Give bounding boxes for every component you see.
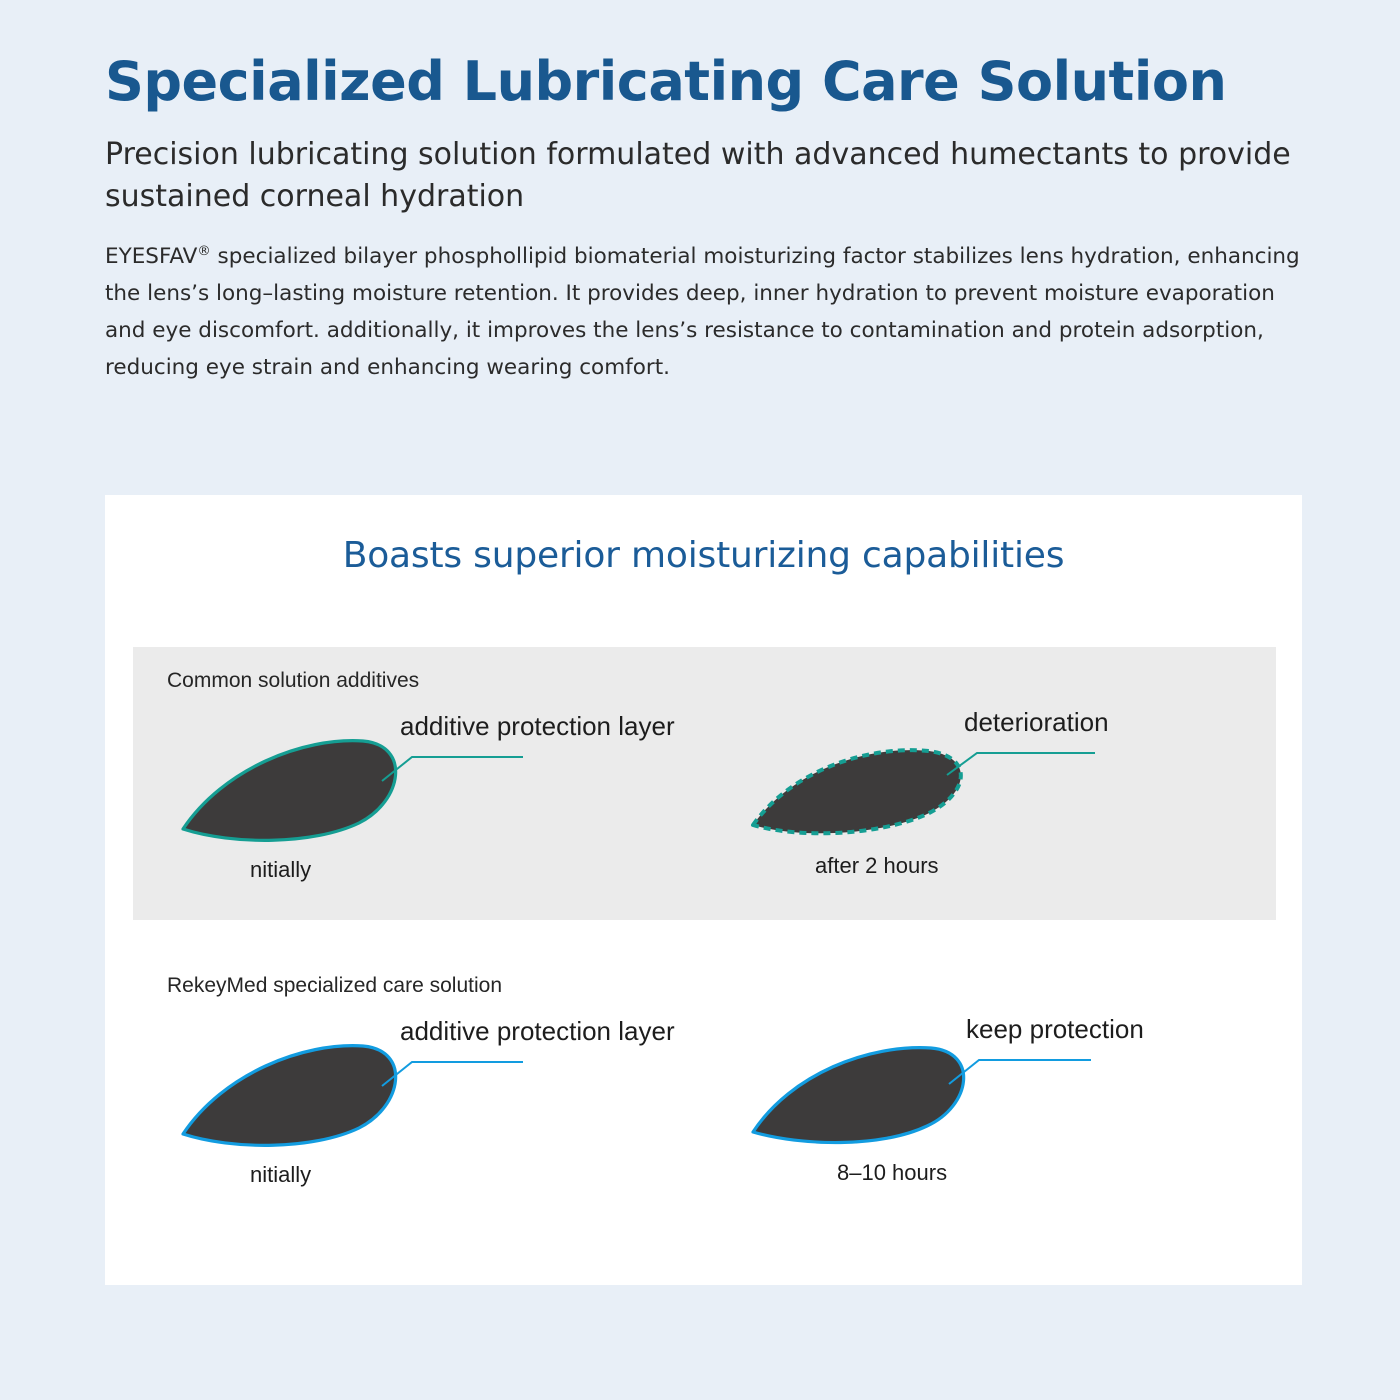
lens-cell-rekeymed-8-10-hours: keep protection 8–10 hours xyxy=(733,1014,1273,1219)
callout-rekeymed-initial: additive protection layer xyxy=(400,1016,675,1047)
stage-label-common-initial: nitially xyxy=(250,857,311,883)
page-body-paragraph: EYESFAV® specialized bilayer phosphollip… xyxy=(105,239,1320,387)
callout-common-initial: additive protection layer xyxy=(400,711,675,742)
page-title: Specialized Lubricating Care Solution xyxy=(105,52,1330,112)
lens-shape xyxy=(183,741,396,841)
stage-label-rekeymed-initial: nitially xyxy=(250,1162,311,1188)
lens-shape-deteriorated xyxy=(753,750,961,833)
panel-label-common: Common solution additives xyxy=(167,669,419,693)
header-block: Specialized Lubricating Care Solution Pr… xyxy=(105,52,1330,387)
lens-shape xyxy=(753,1048,964,1143)
card-title: Boasts superior moisturizing capabilitie… xyxy=(105,535,1302,576)
page-subtitle: Precision lubricating solution formulate… xyxy=(105,134,1330,217)
leader-line xyxy=(382,757,523,781)
panel-rekeymed-specialized-care-solution: RekeyMed specialized care solution addit… xyxy=(133,952,1276,1225)
registered-mark-icon: ® xyxy=(197,244,210,259)
callout-rekeymed-keep-protection: keep protection xyxy=(966,1014,1144,1045)
stage-label-common-after-2-hours: after 2 hours xyxy=(815,853,939,879)
lens-cell-common-initial: additive protection layer nitially xyxy=(163,709,703,914)
brand-name: EYESFAV xyxy=(105,244,197,269)
lens-cell-common-after-2-hours: deterioration after 2 hours xyxy=(733,709,1273,914)
leader-line xyxy=(947,753,1095,775)
panel-common-solution-additives: Common solution additives additive prote… xyxy=(133,647,1276,920)
comparison-card: Boasts superior moisturizing capabilitie… xyxy=(105,495,1302,1285)
body-copy: specialized bilayer phosphollipid biomat… xyxy=(105,244,1300,380)
leader-line xyxy=(382,1062,523,1086)
stage-label-rekeymed-8-10-hours: 8–10 hours xyxy=(837,1160,947,1186)
leader-line xyxy=(949,1060,1091,1084)
lens-cell-rekeymed-initial: additive protection layer nitially xyxy=(163,1014,703,1219)
lens-shape xyxy=(183,1046,396,1146)
callout-common-deterioration: deterioration xyxy=(964,707,1109,738)
panel-label-rekeymed: RekeyMed specialized care solution xyxy=(167,974,502,998)
